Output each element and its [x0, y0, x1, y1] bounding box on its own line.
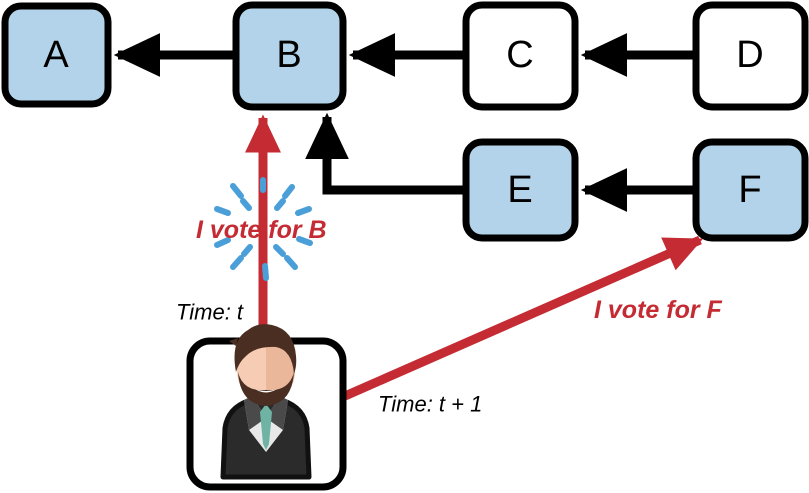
- node-b[interactable]: B: [236, 5, 343, 107]
- node-a[interactable]: A: [5, 6, 108, 104]
- node-layer: A B C D E F: [5, 5, 805, 238]
- vote-f-label: I vote for F: [594, 296, 723, 324]
- node-e-label: E: [507, 169, 532, 211]
- diagram-canvas: A B C D E F: [0, 0, 809, 493]
- edge-layer: [118, 55, 696, 190]
- voter-card[interactable]: [190, 324, 343, 487]
- node-e[interactable]: E: [466, 142, 575, 238]
- node-a-label: A: [43, 34, 69, 76]
- node-c-label: C: [506, 34, 533, 76]
- edge-e-to-b: [327, 117, 466, 190]
- node-d-label: D: [736, 34, 763, 76]
- time-t-plus-1-label: Time: t + 1: [378, 392, 482, 417]
- diagram-svg: A B C D E F: [0, 0, 809, 493]
- node-f-label: F: [738, 169, 761, 211]
- node-d[interactable]: D: [696, 5, 805, 107]
- node-c[interactable]: C: [466, 5, 575, 107]
- node-b-label: B: [276, 34, 301, 76]
- node-f[interactable]: F: [696, 142, 805, 238]
- time-t-label: Time: t: [176, 300, 244, 325]
- vote-b-label: I vote for B: [196, 216, 327, 244]
